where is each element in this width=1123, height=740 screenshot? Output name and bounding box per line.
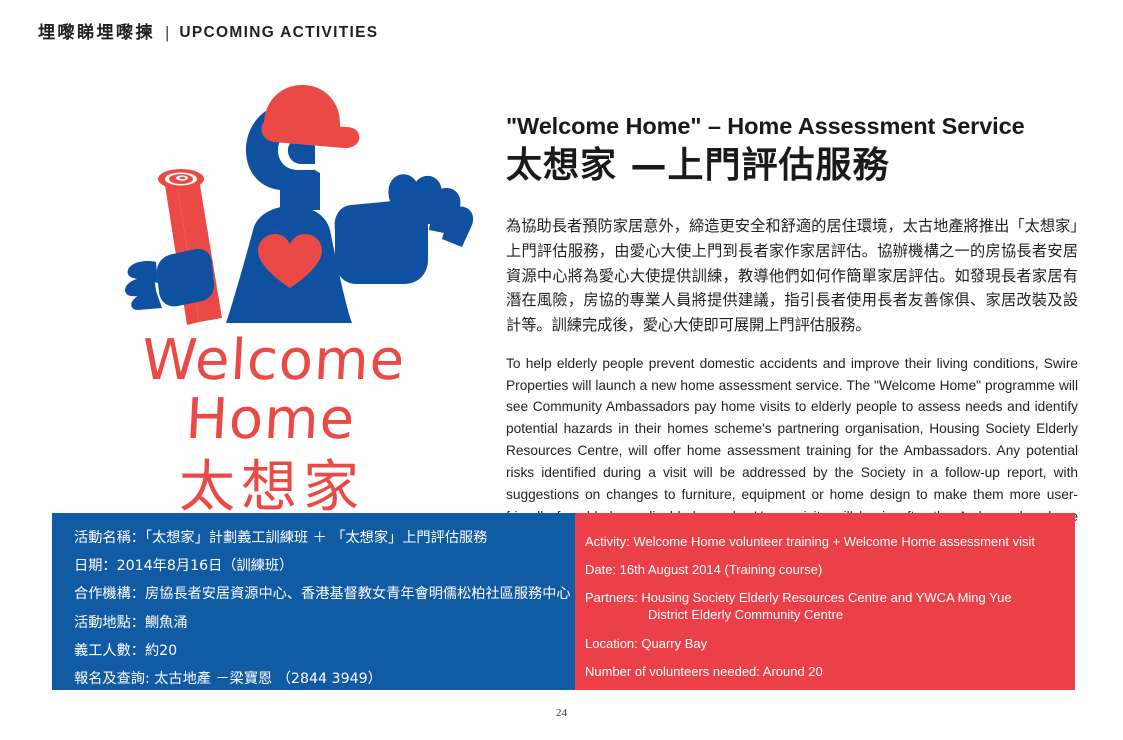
article-title-en: "Welcome Home" – Home Assessment Service (506, 112, 1078, 141)
event-detail-line: Location: Quarry Bay (585, 635, 1057, 652)
event-detail-line: Activity: Welcome Home volunteer trainin… (585, 533, 1057, 550)
article-title-zh: 太想家 —上門評估服務 (506, 143, 1078, 189)
event-detail-line: 報名及查詢: 太古地產 －梁寶恩 （2844 3949） (74, 672, 553, 686)
event-detail-line-continued: District Elderly Community Centre (585, 606, 1057, 623)
logo-text-en: Welcome Home (49, 332, 495, 450)
event-detail-line: Date: 16th August 2014 (Training course) (585, 561, 1057, 578)
waving-hand-icon (335, 174, 473, 284)
event-detail-line: 合作機構：房協長者安居資源中心、香港基督教女青年會明儒松柏社區服務中心 (74, 587, 553, 601)
header-separator: | (165, 24, 169, 41)
event-detail-line: Number of volunteers needed: Around 20 (585, 663, 1057, 680)
page-header: 埋嚟睇埋嚟揀 | UPCOMING ACTIVITIES (38, 24, 378, 41)
header-section-zh: 埋嚟睇埋嚟揀 (38, 24, 155, 41)
page-number: 24 (0, 707, 1123, 719)
event-detail-line: Enquiries: Bobo Leung, Swire Properties … (585, 691, 1057, 708)
event-detail-line: 活動名稱：「太想家」計劃義工訓練班 ＋ 「太想家」上門評估服務 (74, 531, 553, 545)
header-section-en: UPCOMING ACTIVITIES (179, 25, 378, 41)
volunteer-illustration (52, 78, 492, 328)
article-column: "Welcome Home" – Home Assessment Service… (506, 112, 1078, 550)
event-detail-line: Partners: Housing Society Elderly Resour… (585, 589, 1057, 606)
article-body-zh: 為協助長者預防家居意外，締造更安全和舒適的居住環境，太古地產將推出「太想家」上門… (506, 214, 1078, 337)
hard-hat-icon (261, 85, 359, 148)
left-hand-icon (125, 249, 214, 310)
page-root: 埋嚟睇埋嚟揀 | UPCOMING ACTIVITIES (0, 0, 1123, 740)
event-detail-line: 日期：2014年8月16日（訓練班） (74, 559, 553, 573)
welcome-home-logo: Welcome Home 太想家 (52, 332, 492, 521)
logo-text-zh: 太想家 (52, 454, 492, 521)
event-details-box-zh: 活動名稱：「太想家」計劃義工訓練班 ＋ 「太想家」上門評估服務 日期：2014年… (52, 513, 575, 690)
event-detail-line: 義工人數：約20 (74, 644, 553, 658)
event-detail-line: 活動地點：鰂魚涌 (74, 616, 553, 630)
event-details-box-en: Activity: Welcome Home volunteer trainin… (575, 513, 1075, 690)
